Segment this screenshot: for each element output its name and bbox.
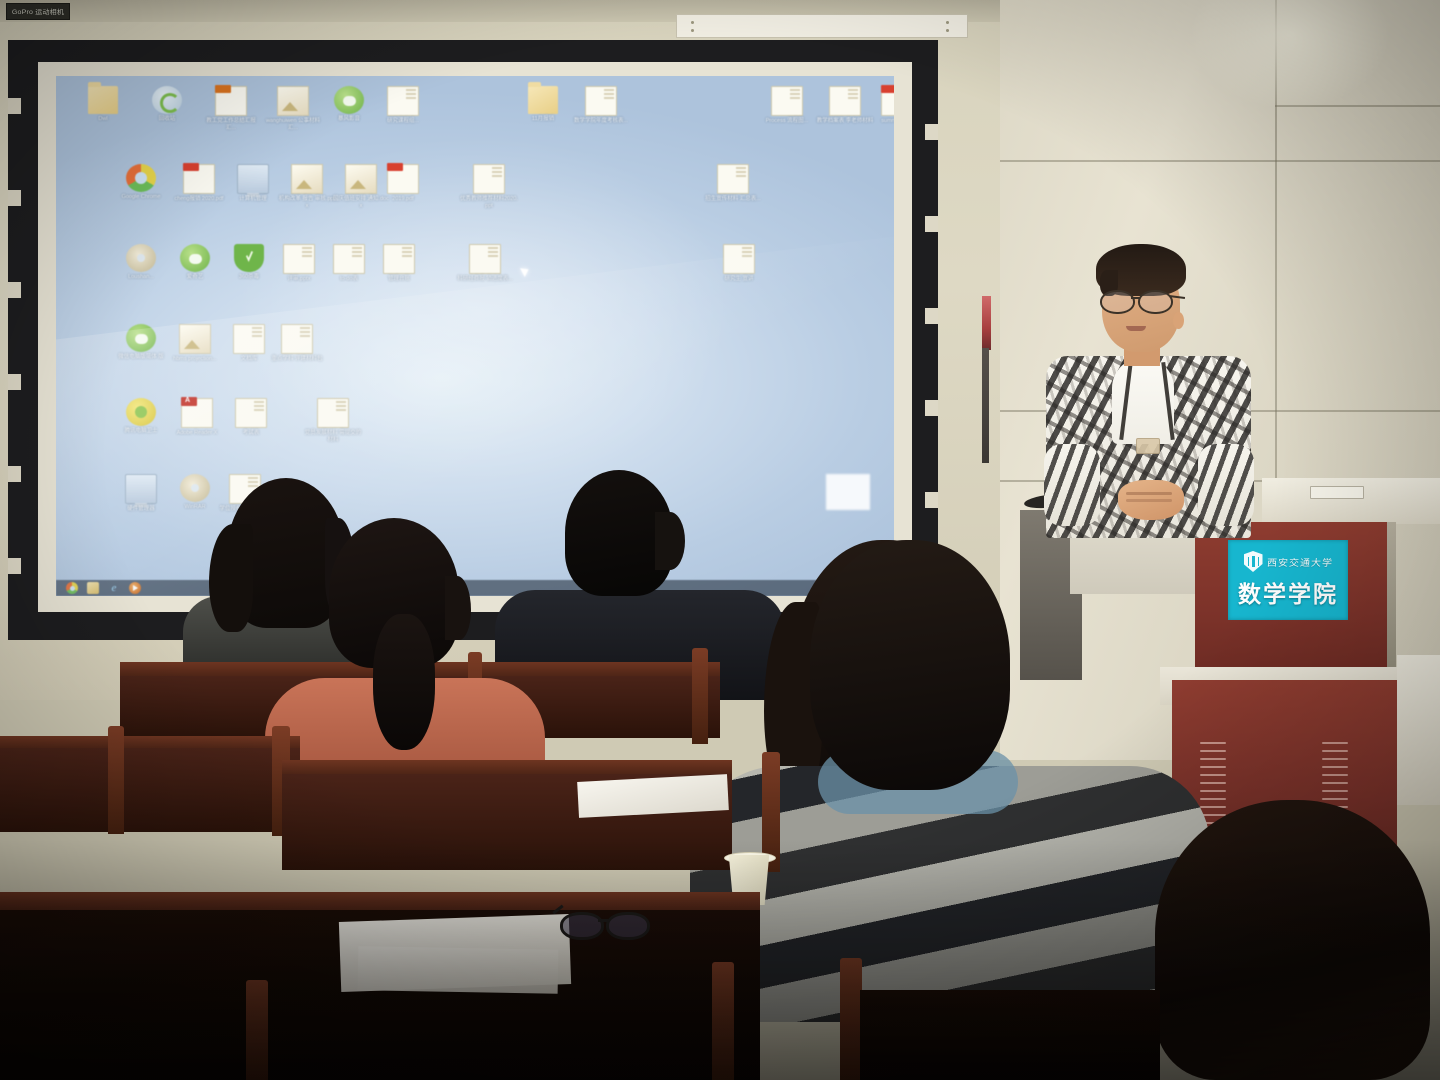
- doc-icon: [387, 86, 419, 116]
- eyeglasses: [560, 908, 652, 938]
- desktop-icon-label: summary.pdf: [868, 118, 894, 125]
- papers-front: [358, 946, 559, 993]
- wall-seam: [1275, 0, 1277, 500]
- doc-icon: [235, 398, 267, 428]
- ppt-icon[interactable]: 教工党工作总结汇报汇...: [202, 86, 260, 131]
- adobe-reader-icon: [181, 398, 213, 428]
- bench-post: [246, 980, 268, 1080]
- name-badge: [1136, 438, 1160, 454]
- podium-sign: 西安交通大学 数学学院: [1228, 540, 1348, 620]
- university-crest-icon: [1244, 551, 1263, 572]
- pdf-icon: [387, 164, 419, 194]
- university-name: 西安交通大学: [1266, 554, 1333, 568]
- chrome-icon: [126, 164, 156, 192]
- image-icon: [179, 324, 211, 354]
- doc-icon[interactable]: 考试表: [222, 398, 280, 437]
- recycle-bin-icon: [152, 86, 182, 114]
- desktop-icon-label: 重点学科 评建材料包: [268, 356, 326, 363]
- bench-post: [108, 726, 124, 834]
- image-icon: [291, 164, 323, 194]
- pdf-icon[interactable]: summary.pdf: [868, 86, 894, 125]
- desktop-icon-label: 研究课程组...: [374, 118, 432, 125]
- presenter-hair: [1096, 244, 1186, 296]
- media-icon: [334, 86, 364, 114]
- wall-dark-strip: [982, 348, 989, 463]
- attendee-suit: [505, 470, 775, 690]
- monitor-icon: [237, 164, 269, 194]
- desktop-icon-label: 研究生 宣讲: [710, 276, 768, 283]
- desktop-icon-label: 考试表: [222, 430, 280, 437]
- desktop-icon-label: hbms projection...: [166, 356, 224, 363]
- attendee-ponytail: [265, 518, 545, 768]
- desktop-icon-label: 机构改革 报告 审核.pptx: [278, 196, 336, 209]
- desktop-icon-label: 数学学院年度考核表...: [572, 118, 630, 125]
- eyeglasses-icon: [1098, 290, 1184, 310]
- shortcut-icon[interactable]: Loushan...: [112, 244, 170, 281]
- folder-icon[interactable]: Dwl: [74, 86, 132, 123]
- doc-icon: [585, 86, 617, 116]
- shortcut-icon: [126, 244, 156, 272]
- ie-taskbar-icon[interactable]: e: [108, 582, 120, 594]
- doc-icon: [283, 244, 315, 274]
- desktop-icon-label: 教学档案表 李老师材料: [816, 118, 874, 125]
- image-icon: [345, 164, 377, 194]
- doc-icon[interactable]: 招生宣传材料 汇总表...: [704, 164, 762, 203]
- pdf-icon[interactable]: cheng报销 2020.pdf: [170, 164, 228, 203]
- desktop-icon-label: 科研经费报 销进度表...: [456, 276, 514, 283]
- chrome-icon[interactable]: Google Chrome: [112, 164, 170, 201]
- antivirus-icon[interactable]: 腾讯电脑卫士: [112, 398, 170, 435]
- lecture-hall-photo: GoPro 运动相机 Dwl回收站教工党工作总结汇报汇...wanghuiwen…: [0, 0, 1440, 1080]
- selected-icon-highlight: [826, 474, 870, 510]
- pdf-icon[interactable]: 2019.pdf: [374, 164, 432, 203]
- ppt-icon: [215, 86, 247, 116]
- doc-icon: [771, 86, 803, 116]
- doc-icon[interactable]: 研究课程组...: [374, 86, 432, 125]
- desktop-icon-label: 2019.pdf: [374, 196, 432, 203]
- podium-side-panel: [1397, 655, 1440, 805]
- image-icon[interactable]: 机构改革 报告 审核.pptx: [278, 164, 336, 209]
- desktop-icon-label: Loushan...: [112, 274, 170, 281]
- desktop-icon-label: 硬件管理器: [112, 506, 170, 513]
- bench-post: [840, 958, 862, 1080]
- doc-icon[interactable]: 优秀教师推荐材料2020.ppt: [460, 164, 518, 209]
- doc-icon[interactable]: 重点学科 评建材料包: [268, 324, 326, 363]
- wall-highlight: [1190, 0, 1390, 110]
- doc-icon: [281, 324, 313, 354]
- monitor-icon[interactable]: 硬件管理器: [112, 474, 170, 513]
- presenter-sleeve-left: [1044, 444, 1100, 526]
- doc-icon: [233, 324, 265, 354]
- desktop-icon-label: 腾讯电脑卫士: [112, 428, 170, 435]
- desktop-icon-label: cheng报销 2020.pdf: [170, 196, 228, 203]
- doc-icon: [717, 164, 749, 194]
- desktop-icon-label: 招生宣传材料 汇总表...: [704, 196, 762, 203]
- desktop-icon-label: Process 流程图...: [758, 118, 816, 125]
- desktop-icon-label: 11月报销: [514, 116, 572, 123]
- doc-icon[interactable]: 党员发展材料 需提交的材料: [304, 398, 362, 443]
- desktop-icon-label: 管理台账: [370, 276, 428, 283]
- chrome-taskbar-icon[interactable]: [66, 582, 78, 594]
- doc-icon: [317, 398, 349, 428]
- doc-icon: [723, 244, 755, 274]
- folder-icon: [88, 86, 118, 114]
- college-name: 数学学院: [1238, 575, 1338, 609]
- doc-icon[interactable]: 科研经费报 销进度表...: [456, 244, 514, 283]
- wall-seam: [1000, 160, 1440, 162]
- doc-icon: [829, 86, 861, 116]
- media-icon[interactable]: 暴风影音: [320, 86, 378, 123]
- image-icon[interactable]: wanghuiwen 公事材料汇...: [264, 86, 322, 131]
- podium-front-edge: [1387, 522, 1396, 667]
- media-icon: [180, 244, 210, 272]
- desktop-icon-label: 党员发展材料 需提交的材料: [304, 430, 362, 443]
- screen-mount-bracket: [676, 14, 968, 38]
- folder-icon[interactable]: 11月报销: [514, 86, 572, 123]
- desktop-icon-label: wanghuiwen 公事材料汇...: [264, 118, 322, 131]
- desk-right: [860, 990, 1160, 1080]
- desktop-icon-label: 计算机管理: [224, 196, 282, 203]
- doc-icon[interactable]: 教学档案表 李老师材料: [816, 86, 874, 125]
- desktop-icon-label: Dwl: [74, 116, 132, 123]
- desktop-icon-label: Google Chrome: [112, 194, 170, 201]
- camera-watermark-label: GoPro 运动相机: [6, 3, 70, 20]
- wechat-icon: [126, 324, 156, 352]
- ear: [1173, 312, 1184, 329]
- doc-icon: [383, 244, 415, 274]
- desktop-icon-label: 暴风影音: [320, 116, 378, 123]
- folder-taskbar-icon[interactable]: [87, 582, 99, 594]
- wechat-icon[interactable]: 微信电脑版简体 版: [112, 324, 170, 361]
- mouth: [1126, 326, 1146, 331]
- doc-icon[interactable]: 管理台账: [370, 244, 428, 283]
- desktop-icon-label: Adobe Reader X: [168, 430, 226, 437]
- doc-icon[interactable]: 研究生 宣讲: [710, 244, 768, 283]
- desktop-icon-label: 爱奇艺: [166, 274, 224, 281]
- mouse-cursor: [520, 265, 531, 277]
- pdf-icon: [881, 86, 894, 116]
- bench-post: [712, 962, 734, 1080]
- wall-seam: [1275, 105, 1440, 107]
- presenter-hands: [1118, 480, 1184, 520]
- monitor-icon[interactable]: 计算机管理: [224, 164, 282, 203]
- desktop-icon-label: 教工党工作总结汇报汇...: [202, 118, 260, 131]
- doc-icon: [469, 244, 501, 274]
- antivirus-icon: [126, 398, 156, 426]
- monitor-icon: [125, 474, 157, 504]
- wall-red-strip: [982, 296, 991, 350]
- cabinet-handle[interactable]: [1310, 486, 1364, 499]
- attendee-foreground: [1135, 800, 1435, 1080]
- folder-icon: [528, 86, 558, 114]
- antivirus-icon: [234, 244, 264, 272]
- bench-left: [0, 748, 300, 832]
- doc-icon[interactable]: Process 流程图...: [758, 86, 816, 125]
- desktop-icon-label: 微信电脑版简体 版: [112, 354, 170, 361]
- image-icon: [277, 86, 309, 116]
- presenter: [1040, 238, 1255, 538]
- recycle-bin-icon[interactable]: 回收站: [138, 86, 196, 123]
- pdf-icon: [183, 164, 215, 194]
- doc-icon: [473, 164, 505, 194]
- media-player-taskbar-icon[interactable]: [129, 582, 141, 594]
- presenter-sleeve-right: [1198, 444, 1254, 526]
- desktop-icon-label: 回收站: [138, 116, 196, 123]
- desktop-icon-label: 优秀教师推荐材料2020.ppt: [460, 196, 518, 209]
- adobe-reader-icon[interactable]: Adobe Reader X: [168, 398, 226, 437]
- image-icon[interactable]: hbms projection...: [166, 324, 224, 363]
- doc-icon: [333, 244, 365, 274]
- doc-icon[interactable]: 数学学院年度考核表...: [572, 86, 630, 125]
- media-icon[interactable]: 爱奇艺: [166, 244, 224, 281]
- podium-back-cabinet: [1262, 478, 1440, 524]
